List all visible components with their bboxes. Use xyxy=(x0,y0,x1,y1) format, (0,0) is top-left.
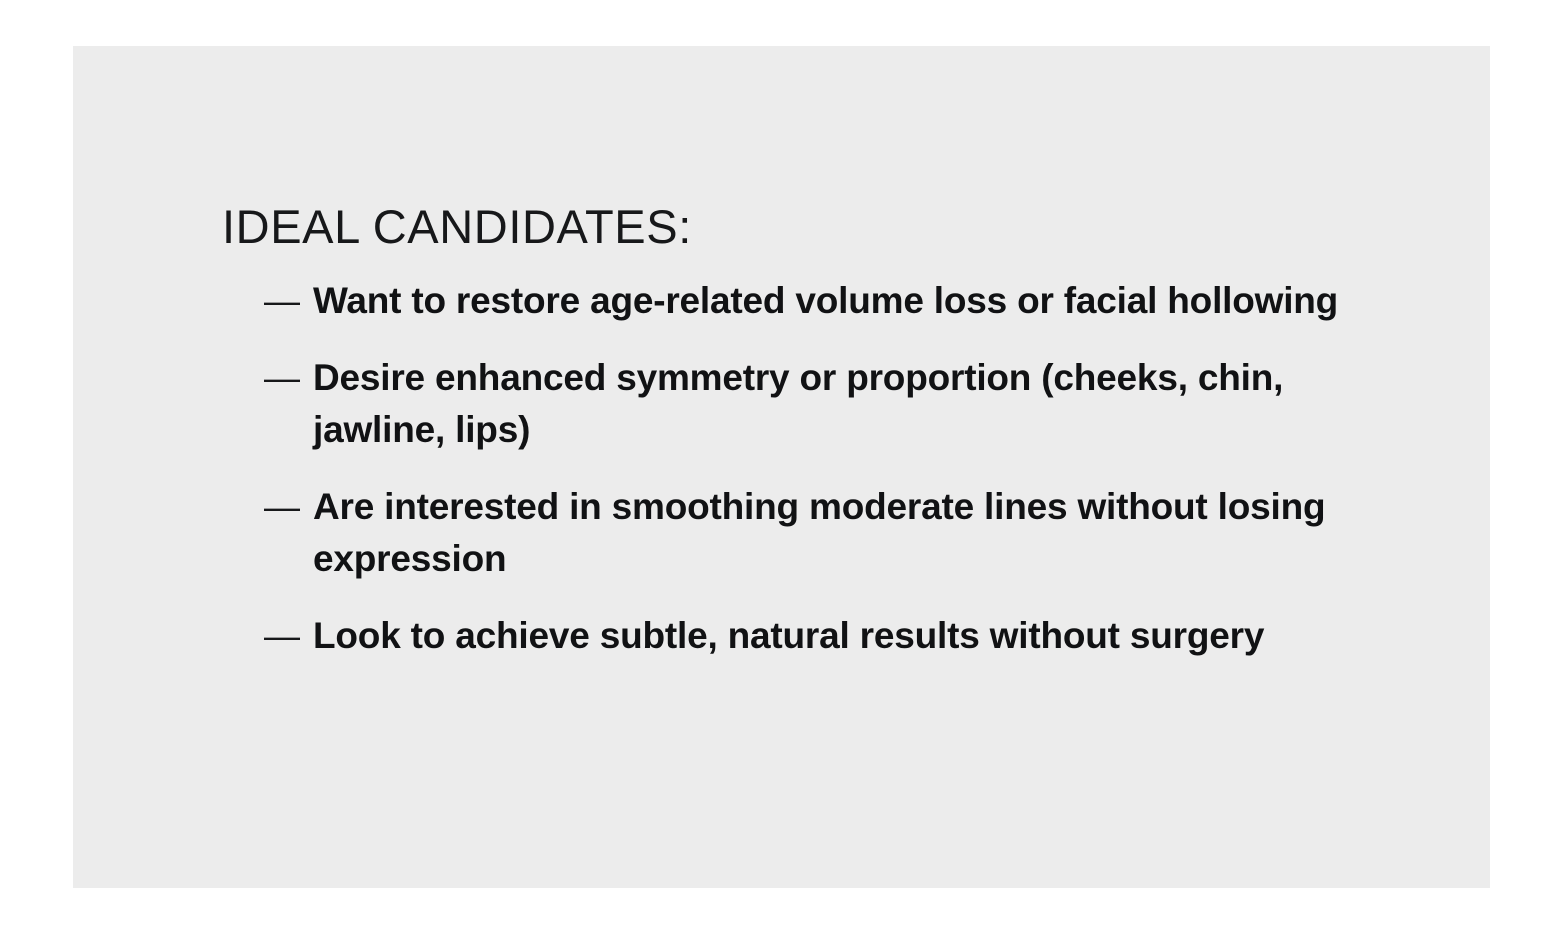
dash-bullet-icon: — xyxy=(264,610,296,662)
list-item: — Are interested in smoothing moderate l… xyxy=(222,481,1402,585)
list-item: — Desire enhanced symmetry or proportion… xyxy=(222,352,1402,456)
list-item-label: Want to restore age-related volume loss … xyxy=(313,275,1343,327)
list-item-label: Look to achieve subtle, natural results … xyxy=(313,610,1343,662)
list-item-label: Desire enhanced symmetry or proportion (… xyxy=(313,352,1343,456)
dash-bullet-icon: — xyxy=(264,352,296,404)
page-title: IDEAL CANDIDATES: xyxy=(222,201,1402,253)
card-inner: IDEAL CANDIDATES: — Want to restore age-… xyxy=(222,201,1402,662)
content-card: IDEAL CANDIDATES: — Want to restore age-… xyxy=(73,46,1490,888)
slide-canvas: IDEAL CANDIDATES: — Want to restore age-… xyxy=(0,0,1563,938)
list-item-label: Are interested in smoothing moderate lin… xyxy=(313,481,1343,585)
list-item: — Look to achieve subtle, natural result… xyxy=(222,610,1402,662)
dash-bullet-icon: — xyxy=(264,275,296,327)
list-item: — Want to restore age-related volume los… xyxy=(222,275,1402,327)
ideal-candidates-list: — Want to restore age-related volume los… xyxy=(222,275,1402,662)
dash-bullet-icon: — xyxy=(264,481,296,533)
